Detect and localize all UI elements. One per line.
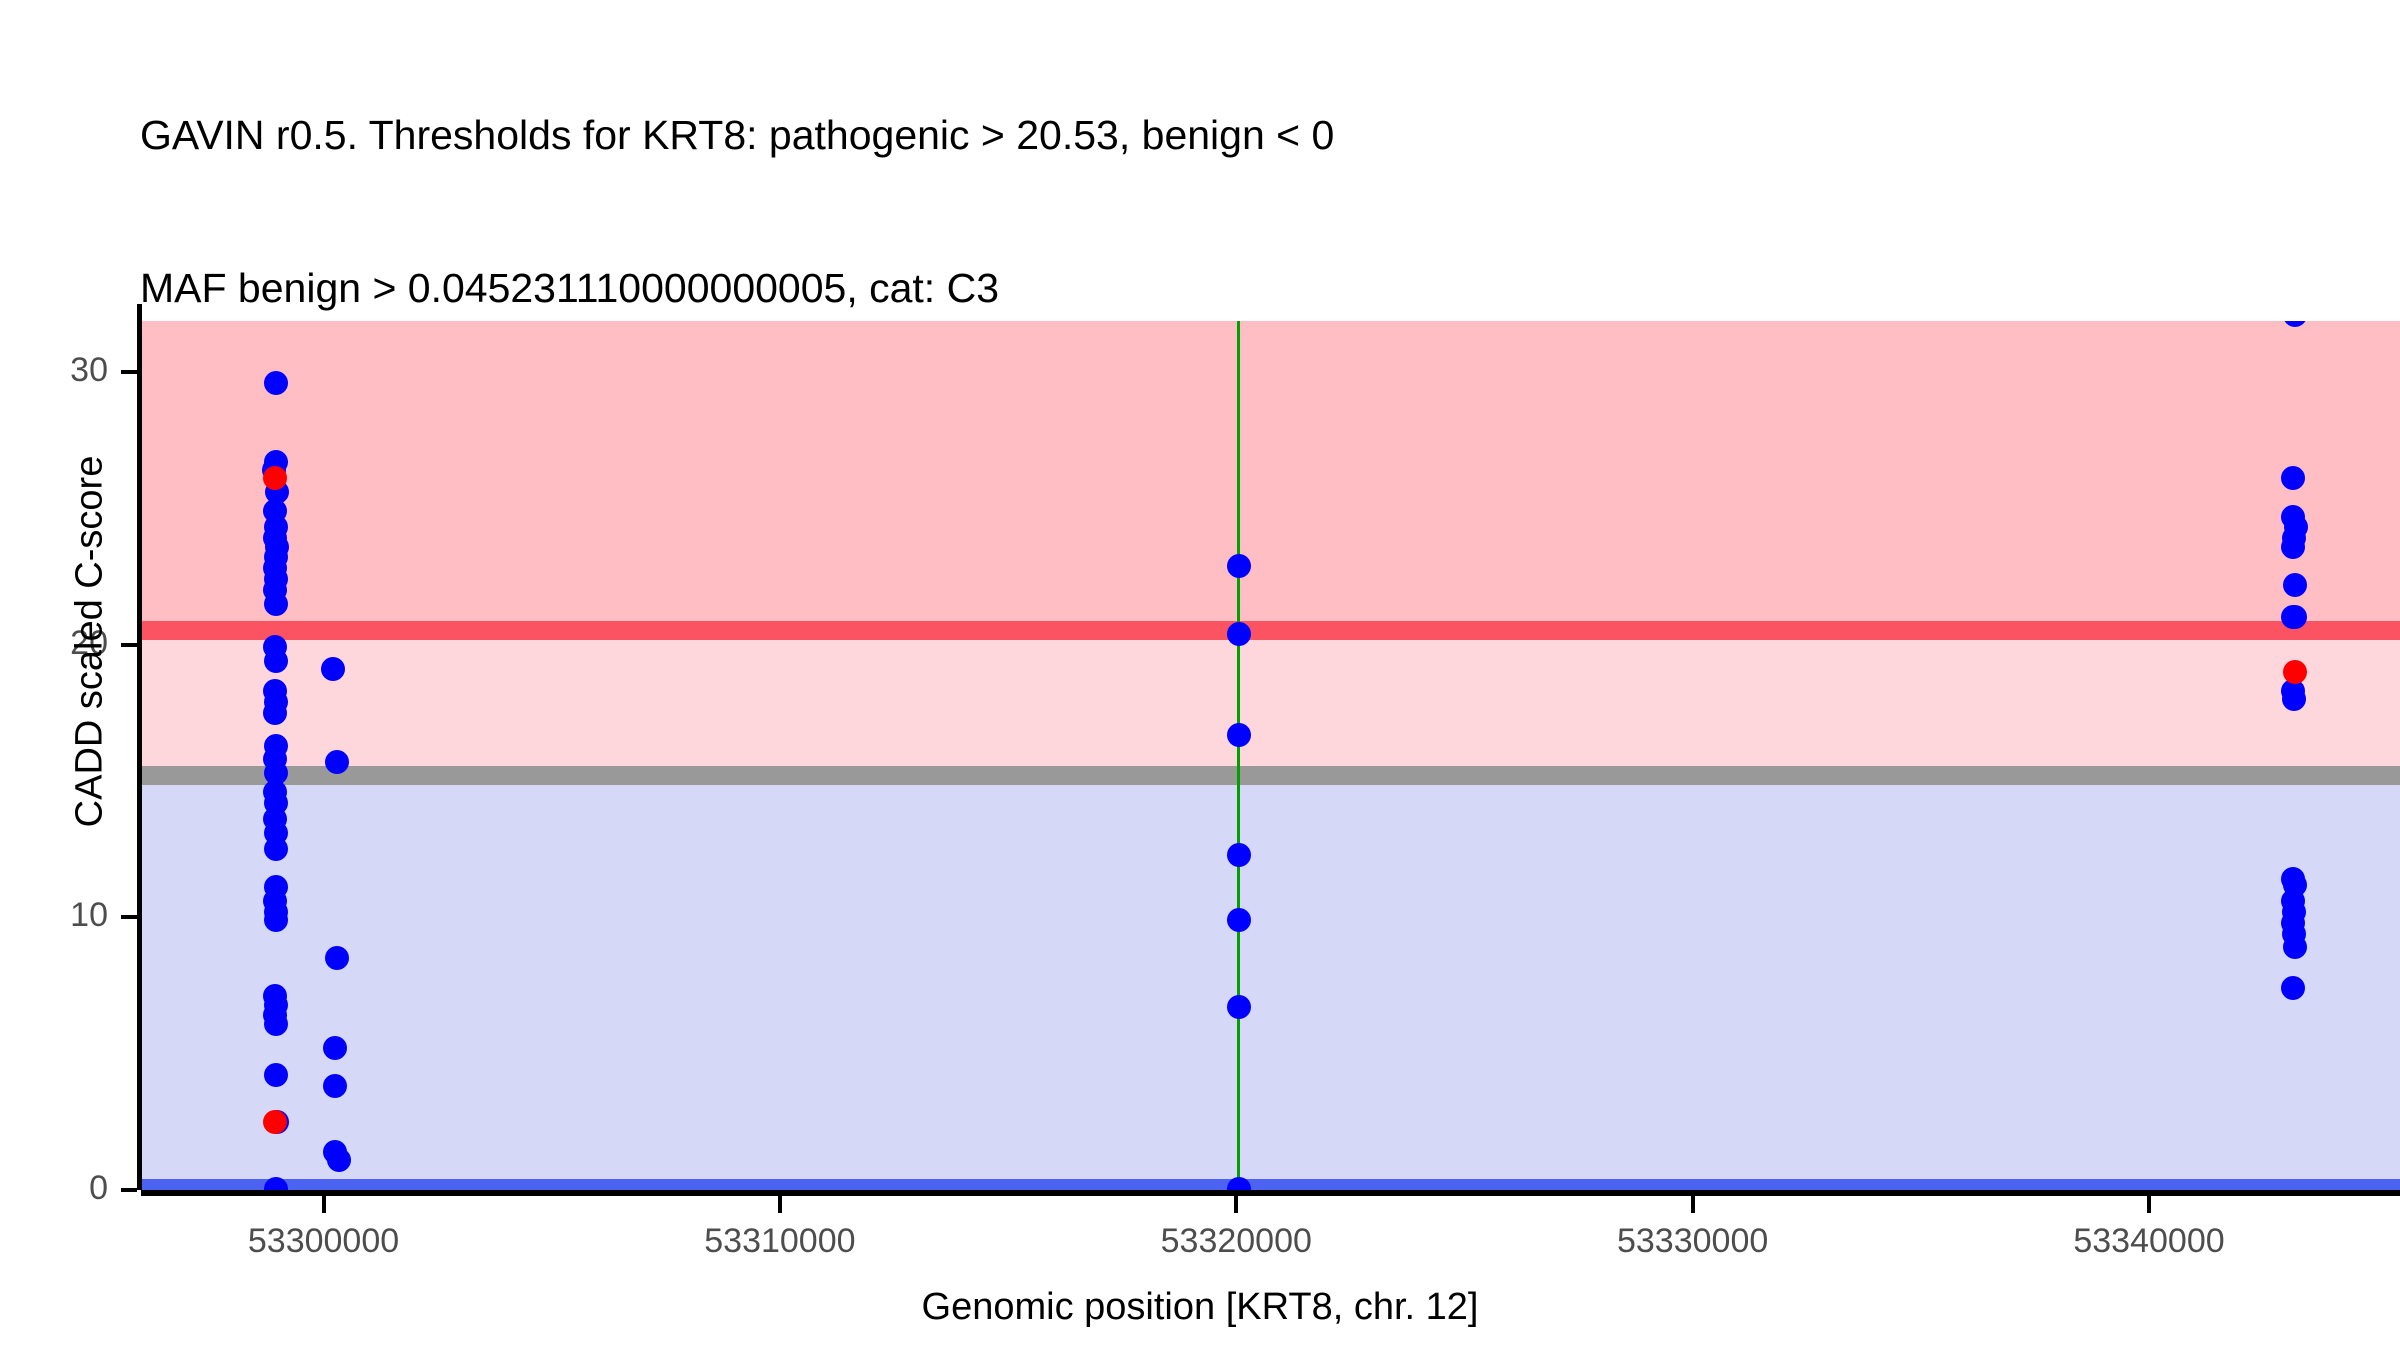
data-point — [264, 1063, 288, 1087]
data-point — [1227, 995, 1251, 1019]
fallback-threshold-line — [141, 766, 2400, 785]
data-point — [323, 1036, 347, 1060]
x-tick — [2147, 1196, 2151, 1213]
band-benign — [141, 776, 2400, 1190]
band-pathogenic — [141, 321, 2400, 630]
y-axis-title: CADD scaled C-score — [69, 362, 112, 922]
y-axis-line — [137, 304, 142, 1190]
data-point — [1227, 554, 1251, 578]
data-point — [1227, 908, 1251, 932]
x-tick-label: 53330000 — [1543, 1222, 1843, 1261]
data-point — [321, 657, 345, 681]
data-point — [264, 837, 288, 861]
data-point — [2281, 976, 2305, 1000]
title-line-2: MAF benign > 0.045231110000000005, cat: … — [140, 263, 2340, 314]
x-tick-label: 53340000 — [1999, 1222, 2299, 1261]
pathogenic-threshold-line — [141, 621, 2400, 640]
title-line-1: GAVIN r0.5. Thresholds for KRT8: pathoge… — [140, 110, 2340, 161]
x-tick — [778, 1196, 782, 1213]
y-tick — [121, 915, 137, 919]
data-point — [1227, 843, 1251, 867]
data-point — [2281, 535, 2305, 559]
data-point — [264, 592, 288, 616]
x-axis-title: Genomic position [KRT8, chr. 12] — [0, 1286, 2400, 1329]
x-tick — [1691, 1196, 1695, 1213]
data-point — [2283, 660, 2307, 684]
y-tick — [121, 370, 137, 374]
data-point — [263, 1110, 287, 1134]
x-tick — [1234, 1196, 1238, 1213]
data-point — [264, 1012, 288, 1036]
x-tick — [322, 1196, 326, 1213]
x-tick-label: 53320000 — [1086, 1222, 1386, 1261]
x-axis-line — [141, 1190, 2400, 1196]
data-point — [264, 908, 288, 932]
chart-root: GAVIN r0.5. Thresholds for KRT8: pathoge… — [0, 0, 2400, 1350]
data-point — [327, 1148, 351, 1172]
refseq-exon-line — [1237, 321, 1240, 1190]
data-point — [264, 371, 288, 395]
plot-panel — [141, 321, 2400, 1190]
benign-threshold-line — [141, 1179, 2400, 1190]
x-tick-label: 53310000 — [630, 1222, 930, 1261]
data-point — [325, 750, 349, 774]
data-point — [264, 649, 288, 673]
data-point — [1227, 622, 1251, 646]
data-point — [263, 701, 287, 725]
y-tick-label: 0 — [8, 1169, 108, 1208]
data-point — [2281, 466, 2305, 490]
data-point — [1227, 723, 1251, 747]
data-point — [2283, 573, 2307, 597]
y-tick — [121, 643, 137, 647]
y-tick — [121, 1188, 137, 1192]
x-tick-label: 53300000 — [174, 1222, 474, 1261]
band-vous — [141, 630, 2400, 775]
